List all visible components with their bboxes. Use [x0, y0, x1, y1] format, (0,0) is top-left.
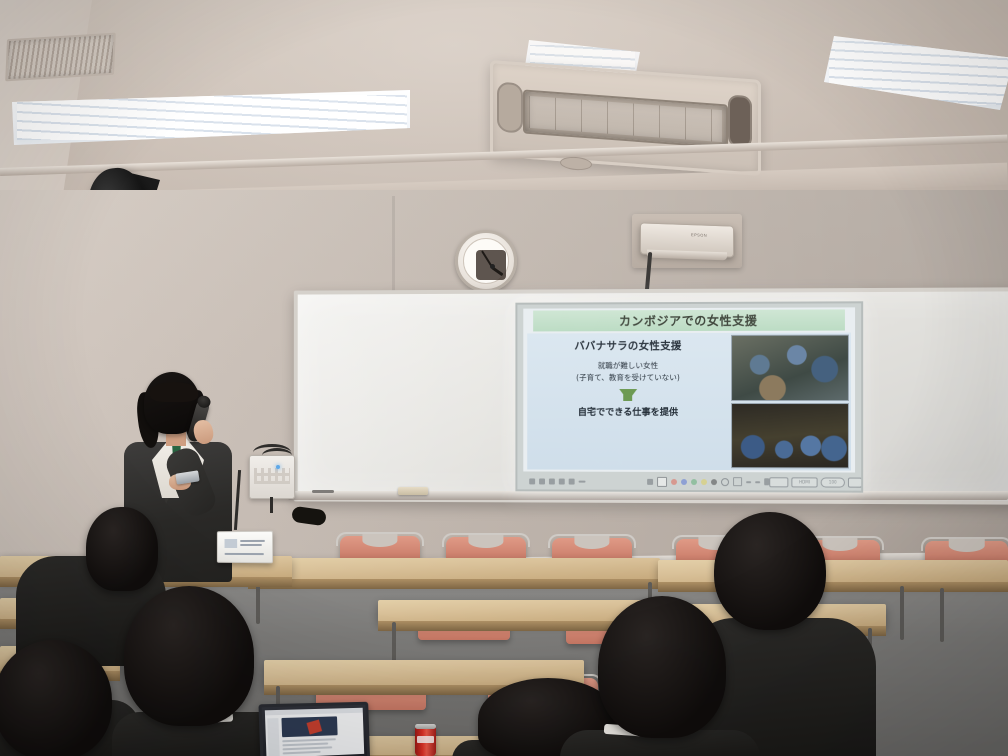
- av-status-led: [276, 465, 280, 469]
- ac-vent-left: [497, 82, 523, 134]
- select-icon[interactable]: [657, 476, 667, 486]
- ceiling-air-vent: [5, 33, 116, 82]
- slide-title: カンボジアでの女性支援: [619, 312, 758, 329]
- projector-annotation-toolbar[interactable]: HDMI 100: [521, 473, 857, 489]
- laptop-text-line-1: [282, 738, 336, 742]
- down-arrow-icon: [619, 389, 637, 401]
- placard-thumbnail: [225, 539, 238, 548]
- menu-icon[interactable]: [848, 477, 862, 487]
- redo-icon[interactable]: [755, 481, 760, 483]
- undo-icon[interactable]: [746, 481, 751, 483]
- laptop-browser-bar: [265, 708, 363, 716]
- slide-photo-column: [729, 333, 851, 471]
- slide-heading: ババナサラの女性支援: [527, 338, 729, 353]
- laptop-text-line-3: [283, 746, 333, 750]
- laptop-text-line-4: [283, 751, 321, 754]
- toolbar-tools-group[interactable]: [647, 476, 769, 486]
- toolbar-left-group[interactable]: [521, 478, 585, 484]
- slide-canvas: カンボジアでの女性支援 ババナサラの女性支援 就職が難しい女性 (子育て、教育を…: [523, 307, 855, 472]
- whiteboard-eraser: [398, 487, 428, 495]
- camera-icon[interactable]: [559, 478, 565, 484]
- more-icon[interactable]: [579, 480, 586, 482]
- wall-panel-seam: [392, 196, 395, 296]
- color-swatch-green[interactable]: [691, 479, 697, 485]
- pen-icon[interactable]: [539, 478, 545, 484]
- can-top: [415, 724, 436, 729]
- table-back-mid: [248, 558, 660, 580]
- color-swatch-black[interactable]: [711, 479, 717, 485]
- laptop-text-line-2: [282, 743, 328, 746]
- slide-body: ババナサラの女性支援 就職が難しい女性 (子育て、教育を受けていない) 自宅でで…: [527, 333, 851, 471]
- marker-icon[interactable]: [647, 478, 653, 484]
- laptop-sidebar: [267, 718, 280, 756]
- audience-head-far-left: [0, 640, 112, 756]
- audience-head-left-center: [124, 586, 254, 726]
- slide-subtext-line2: (子育て、教育を受けていない): [527, 372, 729, 383]
- crop-icon[interactable]: [733, 477, 742, 486]
- ceiling-ac-cassette: [490, 60, 761, 176]
- eraser-icon[interactable]: [549, 478, 555, 484]
- presenter-bangs: [150, 382, 198, 402]
- trash-icon[interactable]: [764, 478, 769, 485]
- coca-cola-can: [415, 726, 436, 756]
- placard-line-1: [240, 540, 265, 542]
- av-wall-control-panel[interactable]: [249, 455, 295, 499]
- audience-head-front-left: [86, 507, 158, 591]
- projected-slide: カンボジアでの女性支援 ババナサラの女性支援 就職が難しい女性 (子育て、教育を…: [515, 301, 863, 492]
- projector-brand-label: EPSON: [691, 232, 707, 238]
- av-cable-down: [270, 497, 273, 513]
- classroom-presentation-photo: EPSON カンボジアでの女性支援 ババナサラの女性支援 就職が難しい女性 (子…: [0, 0, 1008, 756]
- whiteboard-marker: [312, 490, 334, 493]
- color-swatch-yellow[interactable]: [701, 479, 707, 485]
- audience-head-mid-right: [714, 512, 826, 630]
- hdmi-label[interactable]: HDMI: [791, 477, 817, 487]
- table-leg-4: [940, 588, 944, 642]
- slide-photo-top: [731, 335, 849, 401]
- audience-head-foreground-right: [598, 596, 726, 738]
- battery-icon[interactable]: 100: [821, 477, 845, 487]
- wall-clock: [455, 230, 517, 292]
- slide-text-column: ババナサラの女性支援 就職が難しい女性 (子育て、教育を受けていない) 自宅でで…: [527, 333, 729, 470]
- av-panel-buttons[interactable]: [254, 468, 290, 484]
- slide-title-bar: カンボジアでの女性支援: [533, 309, 845, 331]
- layout-icon[interactable]: [569, 478, 575, 484]
- placard-line-3: [225, 553, 264, 555]
- table-leg-3: [900, 586, 904, 640]
- slide-photo-bottom: [731, 403, 849, 469]
- clock-center-pin: [490, 264, 495, 269]
- slide-conclusion: 自宅でできる仕事を提供: [527, 404, 729, 418]
- placard-line-2: [240, 544, 262, 546]
- ac-vent-right: [728, 95, 752, 149]
- home-icon[interactable]: [529, 478, 535, 484]
- circle-icon[interactable]: [721, 478, 729, 486]
- slide-subtext-line1: 就職が難しい女性: [527, 360, 729, 371]
- color-swatch-red[interactable]: [671, 478, 677, 484]
- ceiling-projector: EPSON: [640, 222, 734, 257]
- presentation-placard: [217, 531, 273, 564]
- color-swatch-blue[interactable]: [681, 478, 687, 484]
- ac-grille: [523, 89, 728, 148]
- display-icon[interactable]: [769, 477, 788, 487]
- table-back-right: [658, 560, 1008, 583]
- laptop-screen-content: [265, 708, 364, 756]
- laptop[interactable]: [258, 702, 370, 756]
- can-label: [417, 736, 434, 743]
- clock-face: [463, 238, 509, 284]
- toolbar-right-group[interactable]: HDMI 100: [769, 477, 863, 487]
